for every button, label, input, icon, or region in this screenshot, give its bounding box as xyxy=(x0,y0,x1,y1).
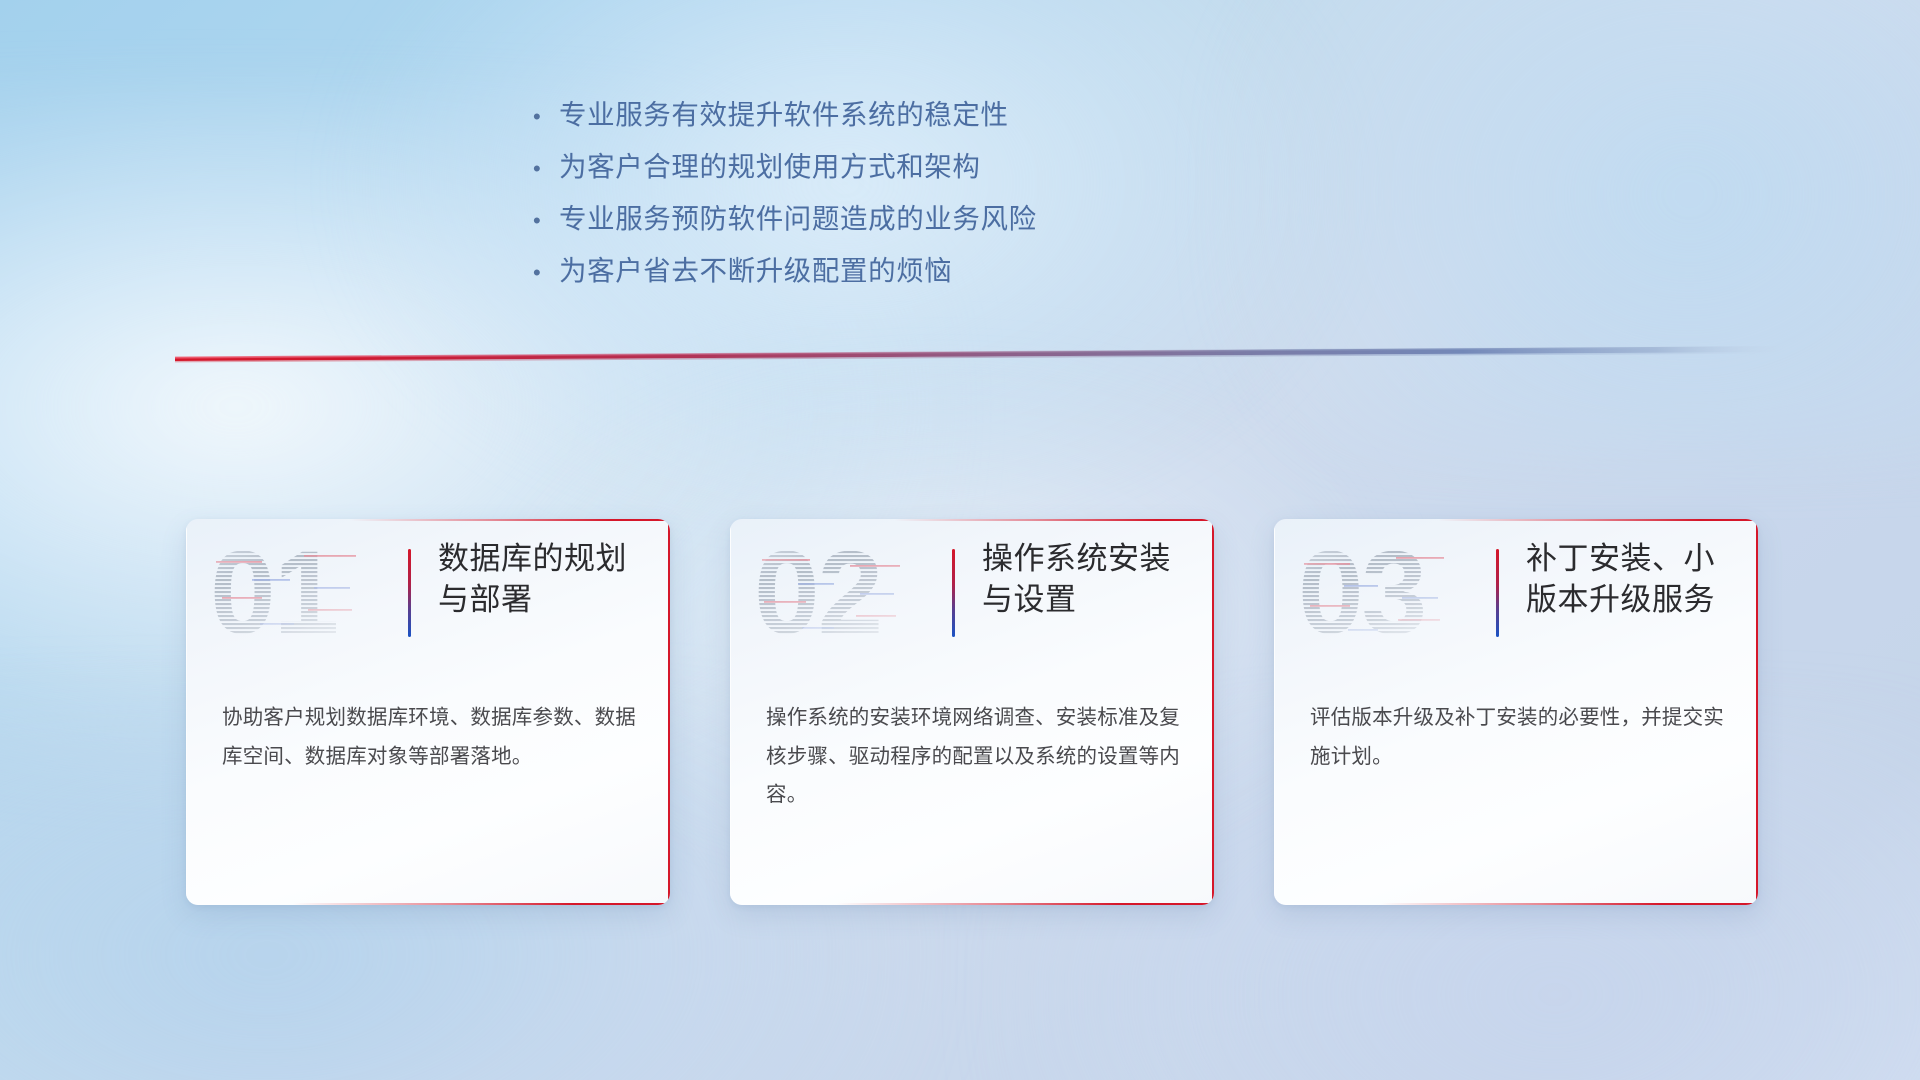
card-edge-top xyxy=(1274,519,1758,521)
card-edge-right xyxy=(1212,519,1214,905)
card-edge-left xyxy=(730,519,731,905)
list-item: • 专业服务预防软件问题造成的业务风险 xyxy=(533,196,1037,248)
card-accent-bar xyxy=(408,549,411,637)
striped-number-01-icon: 01 xyxy=(208,535,388,651)
card-header: 02 操作系统安装与设置 xyxy=(730,519,1214,667)
card-number-watermark: 03 xyxy=(1296,535,1476,651)
card-header: 01 数据库的规划与部署 xyxy=(186,519,670,667)
bullet-dot-icon: • xyxy=(533,106,559,128)
list-item: • 专业服务有效提升软件系统的稳定性 xyxy=(533,92,1037,144)
bullet-text: 专业服务预防软件问题造成的业务风险 xyxy=(559,196,1037,236)
card-number-watermark: 01 xyxy=(208,535,388,651)
card-edge-right xyxy=(668,519,670,905)
service-card[interactable]: 02 操作系统安装与设置 操作系统的安装环境网络调查、安装标准及 xyxy=(730,519,1214,905)
card-description: 协助客户规划数据库环境、数据库参数、数据库空间、数据库对象等部署落地。 xyxy=(222,699,640,776)
card-accent-bar xyxy=(952,549,955,637)
card-edge-bottom xyxy=(186,903,670,905)
divider-wedge-icon xyxy=(175,340,1785,366)
svg-text:03: 03 xyxy=(1298,535,1425,651)
card-accent-bar xyxy=(1496,549,1499,637)
bullet-dot-icon: • xyxy=(533,158,559,180)
striped-number-02-icon: 02 xyxy=(752,535,932,651)
card-edge-bottom xyxy=(730,903,1214,905)
card-edge-left xyxy=(1274,519,1275,905)
section-divider xyxy=(175,340,1785,366)
card-title: 操作系统安装与设置 xyxy=(982,539,1188,621)
bullet-text: 为客户合理的规划使用方式和架构 xyxy=(559,144,981,184)
svg-text:01: 01 xyxy=(210,535,337,651)
service-card[interactable]: 03 补丁安装、小版本升级服务 评估版本升级及补丁安装的必要性， xyxy=(1274,519,1758,905)
benefits-bullet-list: • 专业服务有效提升软件系统的稳定性 • 为客户合理的规划使用方式和架构 • 专… xyxy=(533,92,1037,300)
bullet-text: 为客户省去不断升级配置的烦恼 xyxy=(559,248,952,288)
bullet-dot-icon: • xyxy=(533,210,559,232)
striped-number-03-icon: 03 xyxy=(1296,535,1476,651)
bullet-text: 专业服务有效提升软件系统的稳定性 xyxy=(559,92,1009,132)
card-number-watermark: 02 xyxy=(752,535,932,651)
card-edge-left xyxy=(186,519,187,905)
card-description: 操作系统的安装环境网络调查、安装标准及复核步骤、驱动程序的配置以及系统的设置等内… xyxy=(766,699,1184,815)
service-card-list: 01 数据库的规划与部署 协助客户规划数据库环境、数据库参数、数 xyxy=(186,519,1758,905)
slide-content: • 专业服务有效提升软件系统的稳定性 • 为客户合理的规划使用方式和架构 • 专… xyxy=(0,0,1920,1080)
card-edge-bottom xyxy=(1274,903,1758,905)
list-item: • 为客户省去不断升级配置的烦恼 xyxy=(533,248,1037,300)
card-edge-top xyxy=(186,519,670,521)
card-edge-top xyxy=(730,519,1214,521)
card-header: 03 补丁安装、小版本升级服务 xyxy=(1274,519,1758,667)
list-item: • 为客户合理的规划使用方式和架构 xyxy=(533,144,1037,196)
bullet-dot-icon: • xyxy=(533,262,559,284)
service-card[interactable]: 01 数据库的规划与部署 协助客户规划数据库环境、数据库参数、数 xyxy=(186,519,670,905)
card-edge-right xyxy=(1756,519,1758,905)
card-title: 补丁安装、小版本升级服务 xyxy=(1526,539,1732,621)
card-description: 评估版本升级及补丁安装的必要性，并提交实施计划。 xyxy=(1310,699,1728,776)
card-title: 数据库的规划与部署 xyxy=(438,539,644,621)
